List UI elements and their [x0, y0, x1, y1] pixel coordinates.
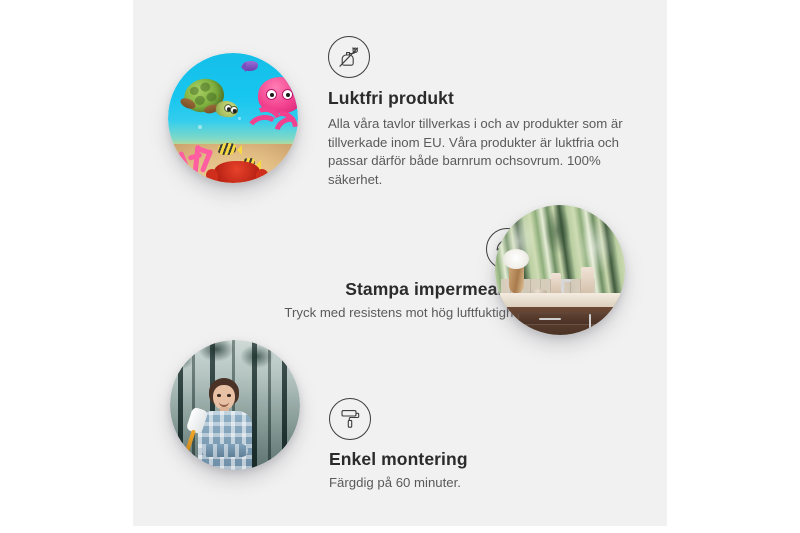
tree-trunk [282, 340, 287, 470]
content-panel: Luktfri produkt Alla våra tavlor tillver… [133, 0, 667, 526]
tree-trunk [268, 340, 271, 470]
underwater-kids-mural-disc [168, 53, 298, 183]
feature-easy-mounting: Enkel montering Färgdig på 60 minuter. [329, 398, 629, 493]
feature-odourless: Luktfri produkt Alla våra tavlor tillver… [328, 36, 628, 189]
woman-figure [192, 378, 266, 470]
feature-description: Färgdig på 60 minuter. [329, 474, 629, 493]
purple-fish-icon [242, 61, 258, 71]
yellow-fish-icon [218, 143, 236, 155]
feature-waterproof: Stampa impermeabile Tryck med resistens … [208, 228, 528, 323]
eye [227, 394, 231, 397]
eye [217, 394, 221, 397]
vanity-cabinet [495, 307, 625, 335]
feature-title: Enkel montering [329, 449, 629, 470]
octopus-icon [244, 77, 298, 143]
bubble-icon [198, 125, 202, 129]
faucet-icon [561, 279, 564, 293]
paint-roller-icon [329, 398, 371, 440]
feature-title: Stampa impermeabile [208, 279, 528, 300]
woman-paint-roller-forest-disc [170, 340, 300, 470]
toiletry-bottle [551, 273, 561, 293]
tree-trunk [178, 340, 183, 470]
toiletry-bottle [581, 267, 594, 293]
crab-icon [214, 161, 260, 183]
feature-description: Tryck med resistens mot hög luftfuktighe… [208, 304, 528, 323]
plaid-shirt [198, 411, 252, 470]
white-flower [503, 249, 529, 269]
feature-description: Alla våra tavlor tillverkas i och av pro… [328, 115, 628, 189]
sea-turtle-icon [178, 79, 236, 119]
folded-arms [202, 444, 248, 457]
no-fragrance-spray-icon [328, 36, 370, 78]
promo-banner: Luktfri produkt Alla våra tavlor tillver… [0, 0, 800, 533]
feature-title: Luktfri produkt [328, 88, 628, 109]
bathroom-tropical-wallpaper-disc [495, 205, 625, 335]
bubble-icon [238, 117, 241, 120]
